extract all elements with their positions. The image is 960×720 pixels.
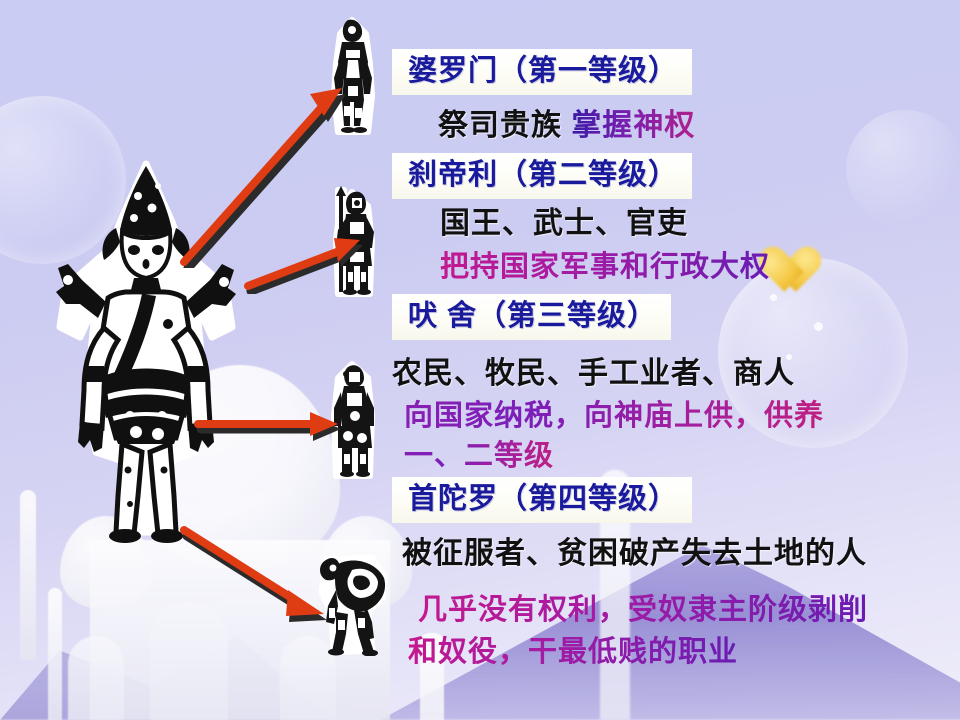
caste-heading-kshatriya: 刹帝利（第二等级） <box>392 153 692 199</box>
caste-detail-brahmin-1b: 掌握神权 <box>571 109 695 142</box>
caste-heading-shudra: 首陀罗（第四等级） <box>392 477 692 523</box>
bubble-icon <box>846 110 960 228</box>
arrow-to-caste-4 <box>178 520 338 630</box>
caste-heading-vaishya: 吠 舍（第三等级） <box>392 294 671 340</box>
caste-detail-vaishya-2: 向国家纳税，向神庙上供，供养 <box>404 392 824 434</box>
minaret-icon <box>20 490 36 660</box>
arch <box>68 636 124 720</box>
caste-detail-shudra-2: 几乎没有权利，受奴隶主阶级剥削 <box>418 586 868 628</box>
caste-heading-brahmin: 婆罗门（第一等级） <box>392 49 692 95</box>
arrow-to-caste-2 <box>242 230 372 294</box>
caste-detail-brahmin-1: 祭司贵族 掌握神权 <box>438 100 695 144</box>
caste-detail-shudra-3: 和奴役，干最低贱的职业 <box>408 628 738 670</box>
caste-detail-kshatriya-1: 国王、武士、官吏 <box>440 198 688 242</box>
caste-detail-brahmin-1a: 祭司贵族 <box>438 109 571 142</box>
caste-detail-shudra-1: 被征服者、贫困破产失去土地的人 <box>402 528 867 572</box>
caste-detail-vaishya-1: 农民、牧民、手工业者、商人 <box>392 348 795 392</box>
caste-detail-kshatriya-2: 把持国家军事和行政大权 <box>440 243 770 285</box>
minaret-icon <box>48 588 62 720</box>
slide-canvas: 婆罗门（第一等级） 祭司贵族 掌握神权 刹帝利（第二等级） 国王、武士、官吏 把… <box>0 0 960 720</box>
arrow-to-caste-3 <box>192 400 352 448</box>
caste-detail-vaishya-3: 一、二等级 <box>404 432 554 474</box>
